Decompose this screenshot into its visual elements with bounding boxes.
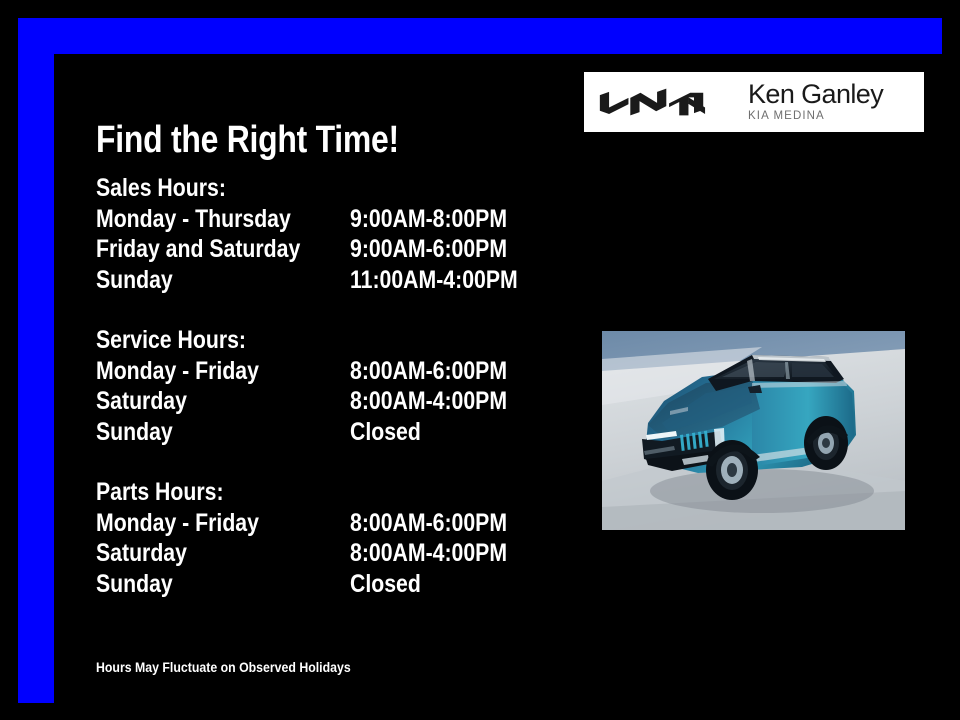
hours-list: Sales Hours:Monday - Thursday9:00AM-8:00…	[96, 173, 616, 599]
hours-block: Sales Hours:Monday - Thursday9:00AM-8:00…	[96, 173, 616, 295]
dealer-subtitle: KIA MEDINA	[748, 110, 883, 123]
dealer-logo-panel: Ken Ganley KIA MEDINA	[584, 72, 924, 132]
hours-time-value: Closed	[350, 417, 421, 448]
hours-time-value: Closed	[350, 569, 421, 600]
hours-time-value: 11:00AM-4:00PM	[350, 265, 518, 296]
hours-time-value: 9:00AM-6:00PM	[350, 234, 507, 265]
hours-block: Service Hours:Monday - Friday8:00AM-6:00…	[96, 325, 616, 447]
hours-row: Saturday8:00AM-4:00PM	[96, 386, 616, 417]
hours-day-label: Sunday	[96, 417, 173, 448]
hours-block-title: Sales Hours:	[96, 173, 538, 204]
hours-row: Monday - Thursday9:00AM-8:00PM	[96, 204, 616, 235]
slide-content-area: Find the Right Time! Sales Hours:Monday …	[54, 54, 942, 703]
page-title: Find the Right Time!	[96, 121, 399, 159]
hours-block-title: Service Hours:	[96, 325, 538, 356]
hours-day-label: Saturday	[96, 538, 187, 569]
blue-border-frame: Find the Right Time! Sales Hours:Monday …	[18, 18, 942, 703]
holiday-disclaimer: Hours May Fluctuate on Observed Holidays	[96, 660, 351, 674]
hours-day-label: Saturday	[96, 386, 187, 417]
hours-row: Monday - Friday8:00AM-6:00PM	[96, 356, 616, 387]
hours-day-label: Monday - Friday	[96, 356, 259, 387]
hours-row: Saturday8:00AM-4:00PM	[96, 538, 616, 569]
hours-block: Parts Hours:Monday - Friday8:00AM-6:00PM…	[96, 477, 616, 599]
hours-time-value: 8:00AM-4:00PM	[350, 386, 507, 417]
slide-canvas: Find the Right Time! Sales Hours:Monday …	[0, 0, 960, 720]
hours-time-value: 8:00AM-6:00PM	[350, 508, 507, 539]
hours-row: Sunday11:00AM-4:00PM	[96, 265, 616, 296]
hours-day-label: Friday and Saturday	[96, 234, 300, 265]
hours-time-value: 9:00AM-8:00PM	[350, 204, 507, 235]
dealer-name: Ken Ganley	[748, 81, 883, 109]
kia-logo-icon	[598, 87, 718, 117]
suv-vehicle-photo	[602, 331, 905, 530]
hours-day-label: Monday - Friday	[96, 508, 259, 539]
hours-row: Monday - Friday8:00AM-6:00PM	[96, 508, 616, 539]
hours-block-title: Parts Hours:	[96, 477, 538, 508]
hours-time-value: 8:00AM-6:00PM	[350, 356, 507, 387]
hours-time-value: 8:00AM-4:00PM	[350, 538, 507, 569]
hours-row: SundayClosed	[96, 417, 616, 448]
dealer-name-block: Ken Ganley KIA MEDINA	[748, 81, 883, 123]
hours-row: Friday and Saturday9:00AM-6:00PM	[96, 234, 616, 265]
hours-day-label: Sunday	[96, 569, 173, 600]
hours-day-label: Monday - Thursday	[96, 204, 291, 235]
hours-day-label: Sunday	[96, 265, 173, 296]
hours-row: SundayClosed	[96, 569, 616, 600]
